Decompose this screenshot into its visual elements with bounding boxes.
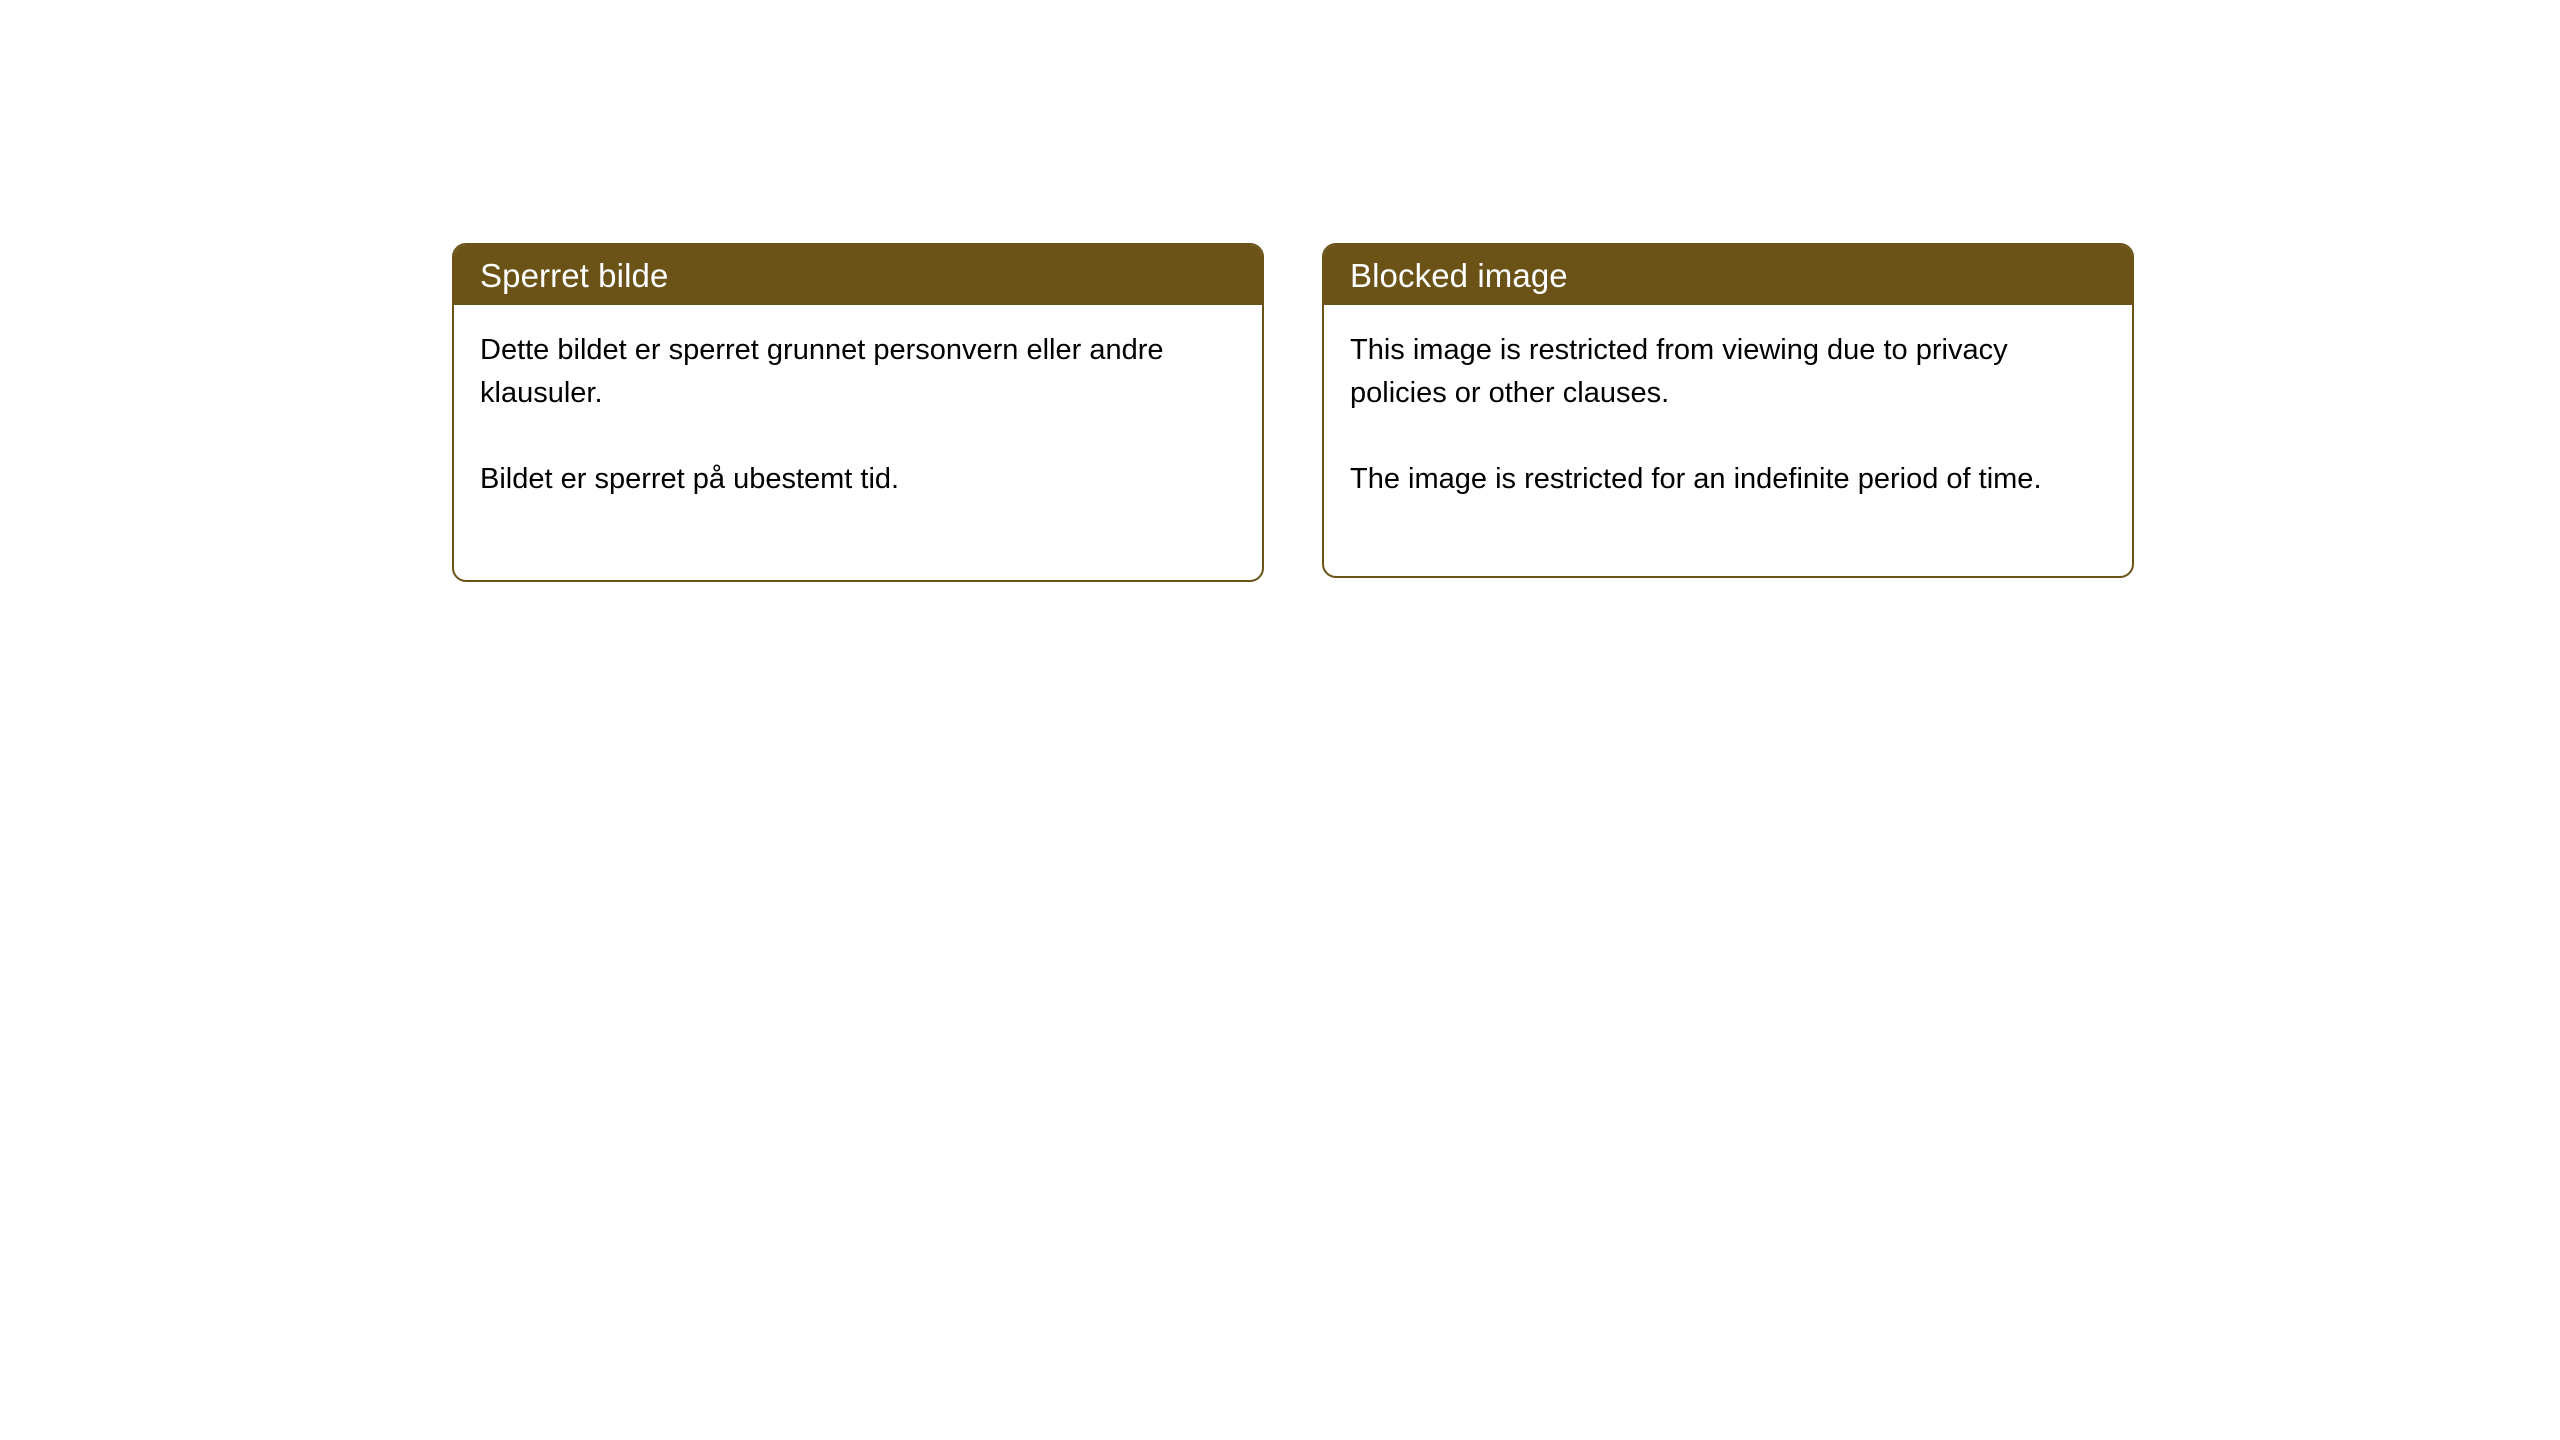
paragraph-spacer-norwegian bbox=[480, 415, 1236, 458]
page-canvas: Sperret bilde Dette bildet er sperret gr… bbox=[0, 0, 2560, 1440]
panel-paragraph-secondary-english: The image is restricted for an indefinit… bbox=[1350, 458, 2090, 501]
paragraph-spacer-english bbox=[1350, 415, 2106, 458]
panel-title-norwegian: Sperret bilde bbox=[480, 259, 668, 292]
panel-paragraph-primary-english: This image is restricted from viewing du… bbox=[1350, 329, 2090, 415]
panel-title-english: Blocked image bbox=[1350, 259, 1568, 292]
panel-body-english: This image is restricted from viewing du… bbox=[1324, 305, 2132, 501]
blocked-image-notice-norwegian: Sperret bilde Dette bildet er sperret gr… bbox=[452, 243, 1264, 582]
panel-paragraph-primary-norwegian: Dette bildet er sperret grunnet personve… bbox=[480, 329, 1220, 415]
panel-header-english: Blocked image bbox=[1324, 245, 2132, 305]
panel-header-norwegian: Sperret bilde bbox=[454, 245, 1262, 305]
blocked-image-notice-english: Blocked image This image is restricted f… bbox=[1322, 243, 2134, 578]
panel-paragraph-secondary-norwegian: Bildet er sperret på ubestemt tid. bbox=[480, 458, 1220, 501]
panel-body-norwegian: Dette bildet er sperret grunnet personve… bbox=[454, 305, 1262, 501]
